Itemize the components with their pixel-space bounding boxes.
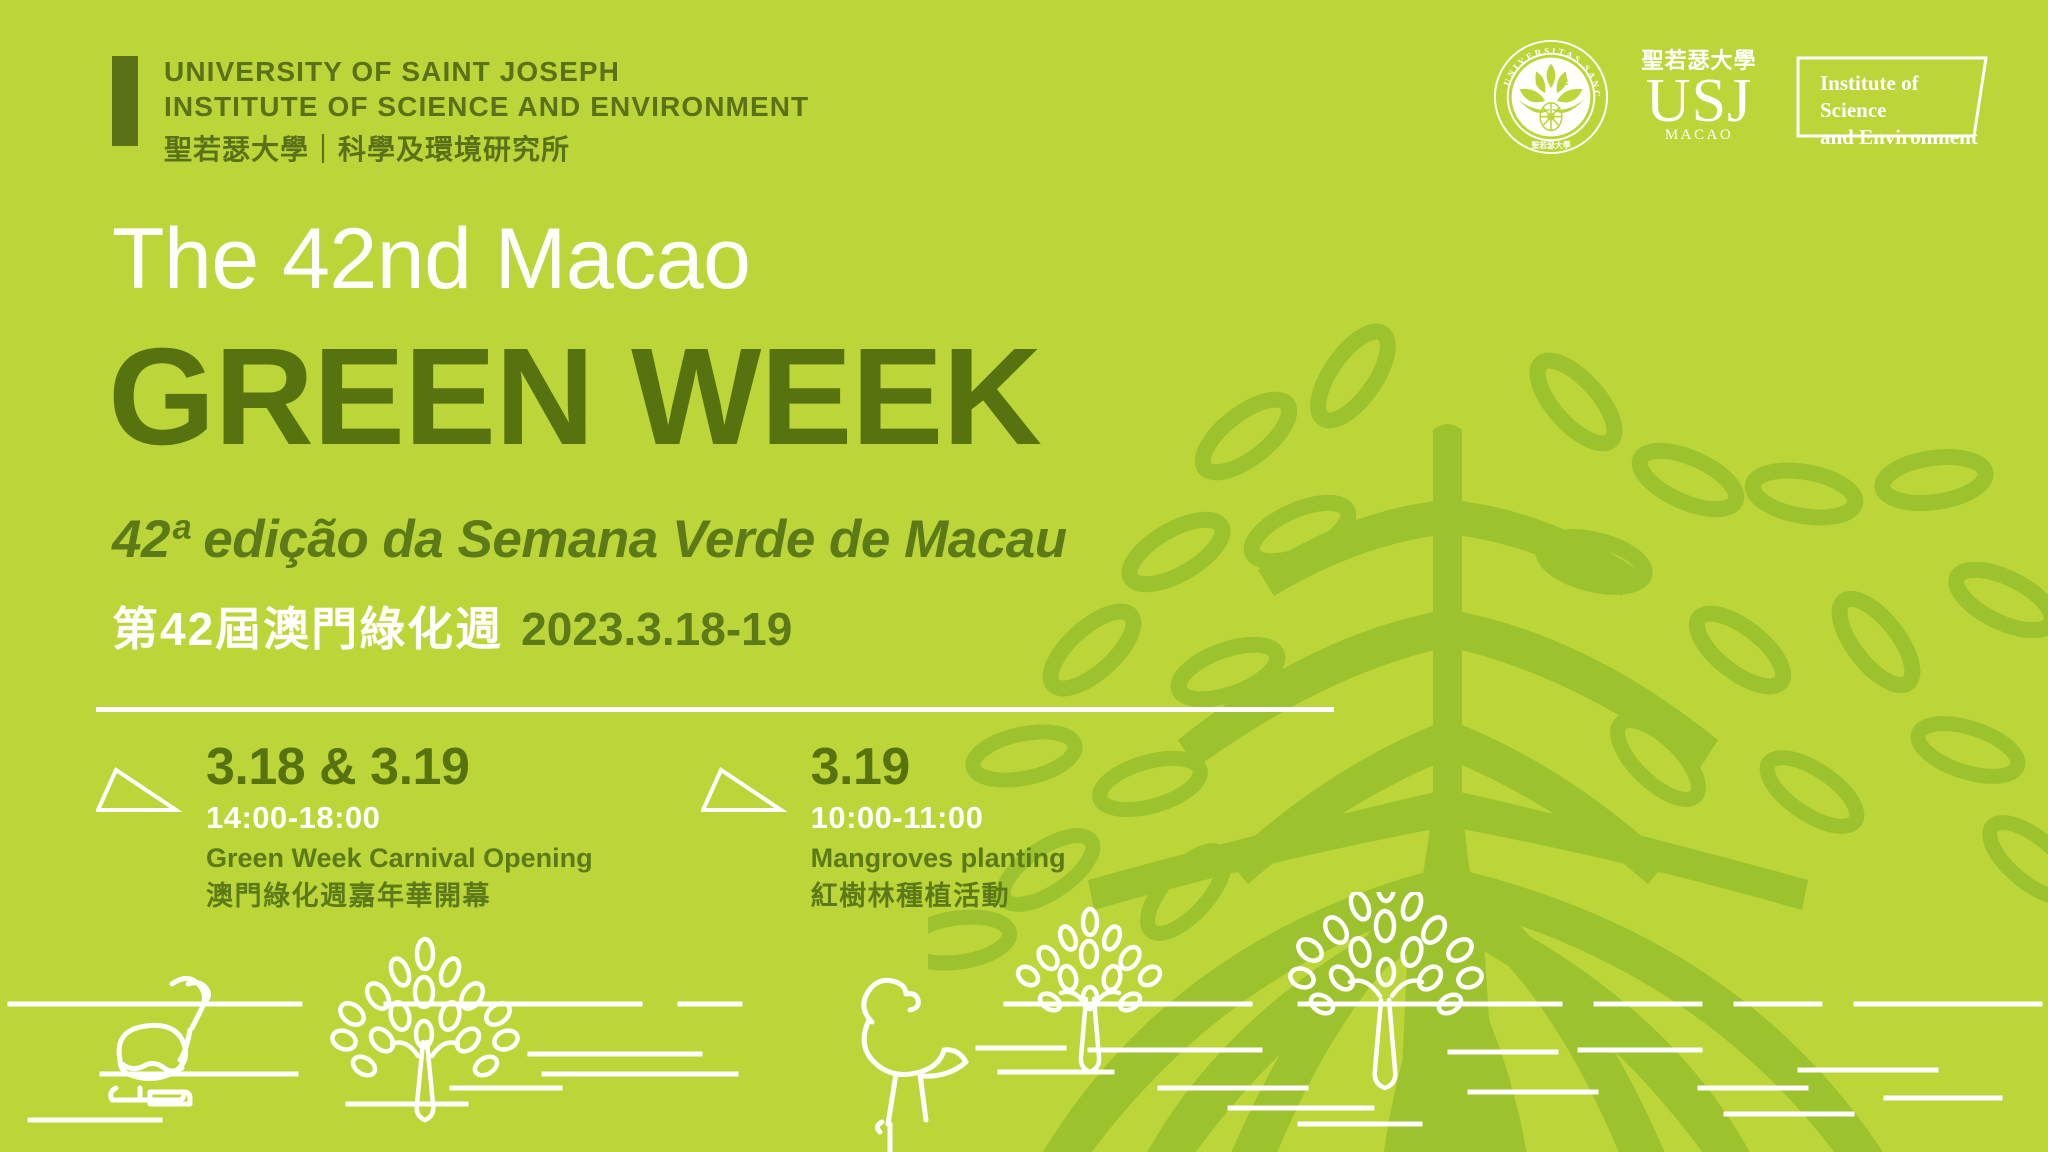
tree-line-art-icon-1 bbox=[330, 939, 521, 1120]
institute-name: INSTITUTE OF SCIENCE AND ENVIRONMENT bbox=[164, 89, 809, 124]
title-chinese-row: 第42屆澳門綠化週 2023.3.18-19 bbox=[112, 606, 792, 652]
event-name-english: Green Week Carnival Opening bbox=[206, 841, 593, 876]
tree-line-art-icon-3 bbox=[1014, 909, 1163, 1072]
flamingo-sitting-icon bbox=[111, 978, 209, 1104]
corner-arrow-icon bbox=[701, 762, 797, 818]
corner-arrow-icon bbox=[96, 762, 192, 818]
title-chinese: 第42屆澳門綠化週 bbox=[112, 606, 503, 652]
institution-header: UNIVERSITY OF SAINT JOSEPH INSTITUTE OF … bbox=[112, 54, 809, 169]
header-accent-bar bbox=[112, 56, 138, 146]
title-portuguese: 42ª edição da Semana Verde de Macau bbox=[112, 513, 1067, 566]
badge-line-1: Institute of Science bbox=[1820, 70, 1990, 124]
event-time: 14:00-18:00 bbox=[206, 799, 593, 838]
usj-location: MACAO bbox=[1665, 127, 1733, 144]
event-item: 3.19 10:00-11:00 Mangroves planting 紅樹林種… bbox=[701, 740, 1066, 915]
usj-letters: USJ bbox=[1646, 72, 1752, 131]
university-name: UNIVERSITY OF SAINT JOSEPH bbox=[164, 54, 809, 89]
mangrove-tree-illustration bbox=[928, 180, 2048, 1152]
event-time: 10:00-11:00 bbox=[811, 799, 1066, 838]
event-date: 3.18 & 3.19 bbox=[206, 740, 593, 795]
section-divider bbox=[96, 707, 1334, 712]
event-date-range: 2023.3.18-19 bbox=[521, 606, 792, 652]
svg-text:聖若瑟大學: 聖若瑟大學 bbox=[1531, 140, 1570, 150]
bottom-illustration-band bbox=[0, 892, 2048, 1152]
event-name-english: Mangroves planting bbox=[811, 841, 1066, 876]
badge-line-2: and Environment bbox=[1820, 124, 1990, 151]
event-name-chinese: 澳門綠化週嘉年華開幕 bbox=[206, 878, 593, 914]
usj-logo-cluster: UNIVERSITAS SANCTI IOSEPH A Ω bbox=[1492, 38, 1990, 156]
institution-name-chinese: 聖若瑟大學｜科學及環境研究所 bbox=[164, 130, 809, 169]
event-date: 3.19 bbox=[811, 740, 1066, 795]
usj-wordmark: 聖若瑟大學 USJ MACAO bbox=[1624, 50, 1774, 144]
svg-text:A: A bbox=[1535, 74, 1544, 88]
title-headline: GREEN WEEK bbox=[108, 328, 1041, 466]
event-name-chinese: 紅樹林種植活動 bbox=[811, 878, 1066, 914]
flamingo-standing-icon bbox=[864, 980, 966, 1152]
usj-seal-icon: UNIVERSITAS SANCTI IOSEPH A Ω bbox=[1492, 38, 1610, 156]
event-list: 3.18 & 3.19 14:00-18:00 Green Week Carni… bbox=[96, 740, 1066, 915]
tree-line-art-icon-2 bbox=[1288, 892, 1485, 1088]
event-item: 3.18 & 3.19 14:00-18:00 Green Week Carni… bbox=[96, 740, 593, 915]
institute-badge: Institute of Science and Environment bbox=[1794, 54, 1990, 140]
poster-canvas: UNIVERSITY OF SAINT JOSEPH INSTITUTE OF … bbox=[0, 0, 2048, 1152]
title-english: The 42nd Macao bbox=[112, 216, 750, 302]
svg-text:Ω: Ω bbox=[1559, 74, 1568, 88]
